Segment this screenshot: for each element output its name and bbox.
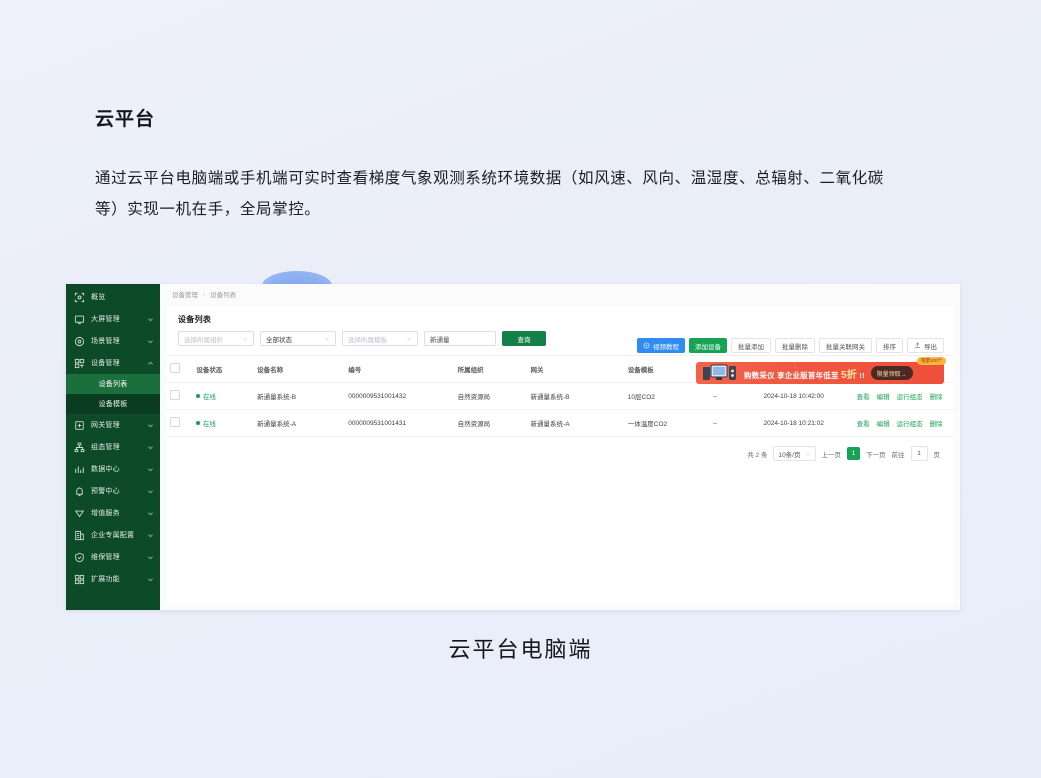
enterprise-icon <box>74 530 85 541</box>
status-text: 在线 <box>203 418 216 428</box>
prev-page-button[interactable]: 上一页 <box>822 449 842 459</box>
intro-section: 云平台 通过云平台电脑端或手机端可实时查看梯度气象观测系统环境数据（如风速、风向… <box>95 104 885 225</box>
template-select[interactable]: 选择所属模板 <box>342 331 418 346</box>
page-size-value: 10条/页 <box>778 449 800 459</box>
sidebar-label: 企业专属配置 <box>91 530 147 540</box>
promo-text-before: 购数采仪 享企业版首年低至 <box>744 371 839 380</box>
breadcrumb: 设备管理 › 设备列表 <box>160 284 960 304</box>
row-select-cell[interactable] <box>166 383 192 410</box>
table-row[interactable]: 在线 新通量系统-A 0000009531001431 自然资源局 新通量系统-… <box>166 410 954 437</box>
sidebar-item-overview[interactable]: 概览 <box>66 286 160 308</box>
chevron-down-icon <box>147 338 154 345</box>
sidebar-item-maintenance[interactable]: 维保管理 <box>66 546 160 568</box>
search-button[interactable]: 查询 <box>502 331 546 346</box>
sidebar-subitem-device-list[interactable]: 设备列表 <box>66 374 160 394</box>
cell-created: 2024-10-18 10:42:00 <box>759 383 852 410</box>
cell-gateway: 新通量系统-A <box>527 410 624 437</box>
export-label: 导出 <box>924 341 937 351</box>
video-tutorial-label: 视频教程 <box>653 341 679 351</box>
panel-title: 设备列表 <box>166 306 954 331</box>
search-button-label: 查询 <box>518 334 531 344</box>
chevron-down-icon <box>147 422 154 429</box>
action-edit[interactable]: 编辑 <box>877 418 890 428</box>
breadcrumb-parent[interactable]: 设备管理 <box>172 289 198 299</box>
cell-status: 在线 <box>192 410 253 437</box>
chevron-down-icon <box>324 336 330 342</box>
sidebar-label: 增值服务 <box>91 508 147 518</box>
sidebar-label: 概览 <box>91 292 154 302</box>
sidebar-item-extensions[interactable]: 扩展功能 <box>66 568 160 590</box>
promo-text: 购数采仪 享企业版首年低至 5折 !! <box>744 366 865 381</box>
video-tutorial-button[interactable]: 视频教程 <box>637 338 685 353</box>
promo-text-after: !! <box>859 371 864 380</box>
sidebar-item-screen[interactable]: 大屏管理 <box>66 308 160 330</box>
play-circle-icon <box>643 342 650 349</box>
column-name: 设备名称 <box>253 356 344 383</box>
alarm-icon <box>74 486 85 497</box>
chevron-down-icon <box>406 336 412 342</box>
device-icon <box>74 358 85 369</box>
main-content: 设备管理 › 设备列表 设备列表 视频教程 添加设备 批量添加 <box>160 284 960 610</box>
column-org: 所属组织 <box>454 356 527 383</box>
cell-code: 0000009531001431 <box>344 410 453 437</box>
promo-banner[interactable]: 购数采仪 享企业版首年低至 5折 !! 限量领取→ 限量100个 <box>696 362 944 384</box>
screen-icon <box>74 314 85 325</box>
export-button[interactable]: 导出 <box>907 338 944 353</box>
status-select-value: 全部状态 <box>266 334 292 344</box>
keyword-input[interactable]: 新通量 <box>424 331 496 346</box>
pagination: 共 2 条 10条/页 上一页 1 下一页 前往 1 页 <box>166 437 954 470</box>
sidebar-label: 扩展功能 <box>91 574 147 584</box>
chevron-up-icon <box>147 360 154 367</box>
template-select-value: 选择所属模板 <box>348 334 387 344</box>
sidebar-item-gateway[interactable]: 网关管理 <box>66 414 160 436</box>
cell-org: 自然资源局 <box>454 383 527 410</box>
org-select[interactable]: 选择所属组织 <box>178 331 254 346</box>
page-title: 云平台 <box>95 104 885 131</box>
cell-template: 10层CO2 <box>624 383 709 410</box>
batch-add-label: 批量添加 <box>738 341 764 351</box>
sidebar-label: 维保管理 <box>91 552 147 562</box>
sidebar-label: 大屏管理 <box>91 314 147 324</box>
table-row[interactable]: 在线 新通量系统-B 0000009531001432 自然资源局 新通量系统-… <box>166 383 954 410</box>
action-run-topology[interactable]: 运行组态 <box>897 391 923 401</box>
page-number-1[interactable]: 1 <box>847 447 860 460</box>
batch-add-button[interactable]: 批量添加 <box>731 338 771 353</box>
data-icon <box>74 464 85 475</box>
add-device-button[interactable]: 添加设备 <box>689 338 727 353</box>
promo-highlight: 5折 <box>841 370 857 381</box>
gateway-icon <box>74 420 85 431</box>
cell-name: 新通量系统-B <box>253 383 344 410</box>
chevron-down-icon <box>147 444 154 451</box>
row-checkbox[interactable] <box>170 390 180 400</box>
sidebar-label: 数据中心 <box>91 464 147 474</box>
toolbar: 视频教程 添加设备 批量添加 批量删除 批量关联网关 排序 <box>637 338 944 353</box>
action-view[interactable]: 查看 <box>857 391 870 401</box>
sort-label: 排序 <box>883 341 896 351</box>
intro-description: 通过云平台电脑端或手机端可实时查看梯度气象观测系统环境数据（如风速、风向、温湿度… <box>95 163 885 225</box>
action-edit[interactable]: 编辑 <box>877 391 890 401</box>
sidebar-item-data-center[interactable]: 数据中心 <box>66 458 160 480</box>
cell-tag: -- <box>709 383 760 410</box>
maintenance-icon <box>74 552 85 563</box>
cell-gateway: 新通量系统-B <box>527 383 624 410</box>
status-select[interactable]: 全部状态 <box>260 331 336 346</box>
cell-actions: 查看 编辑 运行组态 删除 <box>853 383 954 410</box>
column-gateway: 网关 <box>527 356 624 383</box>
promo-cta-button[interactable]: 限量领取→ <box>871 366 913 380</box>
scene-icon <box>74 336 85 347</box>
sidebar-subitem-device-template[interactable]: 设备模板 <box>66 394 160 414</box>
sidebar-item-enterprise-config[interactable]: 企业专属配置 <box>66 524 160 546</box>
row-checkbox[interactable] <box>170 417 180 427</box>
cell-tag: -- <box>709 410 760 437</box>
page-unit-label: 页 <box>934 449 941 459</box>
cell-org: 自然资源局 <box>454 410 527 437</box>
chevron-down-icon <box>147 466 154 473</box>
cell-code: 0000009531001432 <box>344 383 453 410</box>
chevron-down-icon <box>147 532 154 539</box>
sidebar-item-topology[interactable]: 组态管理 <box>66 436 160 458</box>
column-status: 设备状态 <box>192 356 253 383</box>
action-run-topology[interactable]: 运行组态 <box>897 418 923 428</box>
sort-icon[interactable] <box>793 366 798 373</box>
figure-caption: 云平台电脑端 <box>0 632 1041 664</box>
action-view[interactable]: 查看 <box>857 418 870 428</box>
sidebar-label: 网关管理 <box>91 420 147 430</box>
batch-delete-label: 批量删除 <box>782 341 808 351</box>
sidebar-label: 预警中心 <box>91 486 147 496</box>
sidebar-sublabel: 设备模板 <box>99 399 128 409</box>
org-select-value: 选择所属组织 <box>184 334 223 344</box>
select-all-cell[interactable] <box>166 356 192 383</box>
device-list-panel: 设备列表 视频教程 添加设备 批量添加 批量删除 <box>166 306 954 604</box>
action-delete[interactable]: 删除 <box>930 418 943 428</box>
action-delete[interactable]: 删除 <box>930 391 943 401</box>
chevron-down-icon <box>147 576 154 583</box>
sidebar-label: 设备管理 <box>91 358 147 368</box>
status-dot-icon <box>196 394 200 398</box>
batch-link-gateway-label: 批量关联网关 <box>826 341 865 351</box>
status-text: 在线 <box>203 391 216 401</box>
goto-label: 前往 <box>892 449 905 459</box>
cell-template: 一体温度CO2 <box>624 410 709 437</box>
cell-created: 2024-10-18 10:21:02 <box>759 410 852 437</box>
keyword-input-value: 新通量 <box>430 334 450 344</box>
sidebar-label: 场景管理 <box>91 336 147 346</box>
sort-button[interactable]: 排序 <box>876 338 903 353</box>
topology-icon <box>74 442 85 453</box>
service-icon <box>74 508 85 519</box>
chevron-down-icon <box>147 554 154 561</box>
overview-icon <box>74 292 85 303</box>
row-select-cell[interactable] <box>166 410 192 437</box>
sidebar-label: 组态管理 <box>91 442 147 452</box>
cell-actions: 查看 编辑 运行组态 删除 <box>853 410 954 437</box>
sidebar-item-scene[interactable]: 场景管理 <box>66 330 160 352</box>
sidebar: 概览 大屏管理 场景管理 设备管理 设备列表 设备模 <box>66 284 160 610</box>
batch-link-gateway-button[interactable]: 批量关联网关 <box>819 338 872 353</box>
breadcrumb-separator-icon: › <box>203 291 205 298</box>
next-page-button[interactable]: 下一页 <box>866 449 886 459</box>
pagination-total: 共 2 条 <box>747 449 767 459</box>
sidebar-item-device[interactable]: 设备管理 <box>66 352 160 374</box>
chevron-down-icon <box>242 336 248 342</box>
cell-status: 在线 <box>192 383 253 410</box>
page-size-select[interactable]: 10条/页 <box>773 446 815 461</box>
sidebar-item-alarm-center[interactable]: 预警中心 <box>66 480 160 502</box>
promo-tag-badge: 限量100个 <box>917 357 946 365</box>
app-screenshot-window: 概览 大屏管理 场景管理 设备管理 设备列表 设备模 <box>66 284 960 610</box>
add-device-label: 添加设备 <box>695 341 721 351</box>
promo-illustration-icon <box>702 363 742 383</box>
chevron-down-icon <box>147 488 154 495</box>
status-dot-icon <box>196 421 200 425</box>
sidebar-sublabel: 设备列表 <box>99 379 128 389</box>
select-all-checkbox[interactable] <box>170 363 180 373</box>
cell-name: 新通量系统-A <box>253 410 344 437</box>
sidebar-item-value-service[interactable]: 增值服务 <box>66 502 160 524</box>
breadcrumb-current: 设备列表 <box>210 289 236 299</box>
chevron-down-icon <box>147 510 154 517</box>
goto-page-input[interactable]: 1 <box>911 446 928 461</box>
batch-delete-button[interactable]: 批量删除 <box>775 338 815 353</box>
chevron-down-icon <box>805 451 811 457</box>
column-code: 编号 <box>344 356 453 383</box>
extend-icon <box>74 574 85 585</box>
export-icon <box>914 342 921 349</box>
chevron-down-icon <box>147 316 154 323</box>
